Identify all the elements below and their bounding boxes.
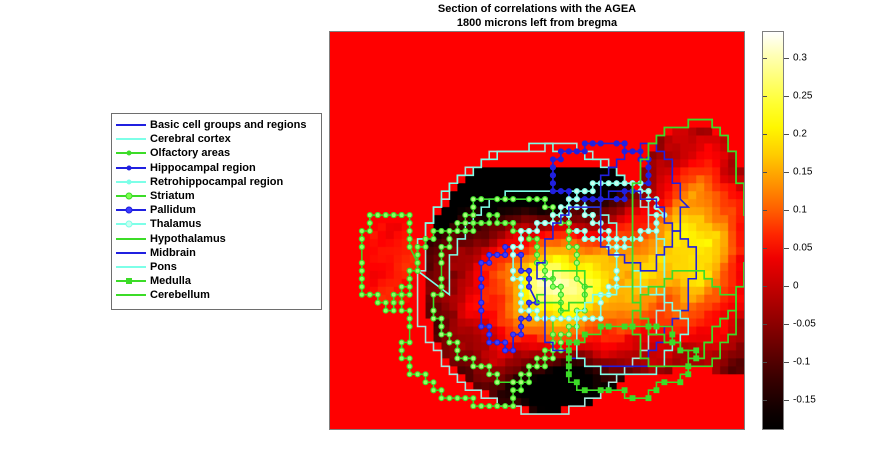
contour-olfactory-areas-marker: [415, 244, 420, 249]
contour-olfactory-areas-marker: [439, 229, 444, 234]
page-title: Section of correlations with the AGEA 18…: [329, 3, 745, 30]
contour-olfactory-areas-marker: [471, 229, 476, 234]
contour-cerebral-cortex: [418, 143, 665, 294]
colorbar-tick-inner: [763, 96, 767, 97]
contour-hippocampal-region-marker: [558, 189, 563, 194]
colorbar-tick: [784, 58, 789, 59]
contour-retrohippocampal-region-marker: [590, 236, 595, 241]
contour-olfactory-areas-marker: [495, 213, 500, 218]
contour-striatum-marker: [463, 356, 468, 361]
contour-medulla-marker: [654, 388, 659, 393]
colorbar-tick-label: 0.3: [793, 52, 807, 63]
contour-pallidum-marker: [495, 252, 500, 257]
contour-olfactory-bulb-marker: [375, 213, 380, 218]
contour-striatum-marker: [487, 372, 492, 377]
legend-item-pallidum[interactable]: Pallidum: [112, 203, 321, 217]
contour-hippocampal-region-marker: [590, 141, 595, 146]
contour-olfactory-areas-marker: [407, 372, 412, 377]
contour-olfactory-bulb-marker: [399, 292, 404, 297]
contour-olfactory-areas-marker: [542, 364, 547, 369]
contour-olfactory-bulb-marker: [367, 292, 372, 297]
contour-olfactory-bulb-marker: [407, 244, 412, 249]
contour-olfactory-bulb-marker: [359, 284, 364, 289]
contour-retrohippocampal-region-marker: [574, 197, 579, 202]
contour-retrohippocampal-region-marker: [590, 181, 595, 186]
contour-striatum-marker: [431, 308, 436, 313]
legend-item-cerebral-cortex[interactable]: Cerebral cortex: [112, 132, 321, 146]
contour-olfactory-areas-marker: [399, 340, 404, 345]
contour-thalamus-marker: [558, 316, 563, 321]
contour-striatum-marker: [447, 340, 452, 345]
contour-pallidum-marker: [479, 308, 484, 313]
contour-olfactory-areas-marker: [423, 244, 428, 249]
contour-retrohippocampal-region-marker: [654, 229, 659, 234]
contour-striatum-marker: [439, 316, 444, 321]
contour-striatum-marker: [479, 364, 484, 369]
legend-item-basic-cell-groups-and-regions[interactable]: Basic cell groups and regions: [112, 118, 321, 132]
contour-olfactory-bulb-marker: [407, 213, 412, 218]
contour-pallidum-marker: [527, 268, 532, 273]
colorbar-tick-label: 0.25: [793, 90, 812, 101]
contour-thalamus-marker: [566, 316, 571, 321]
contour-striatum-marker: [447, 244, 452, 249]
contour-hippocampal-region-marker: [582, 149, 587, 154]
legend-item-striatum[interactable]: Striatum: [112, 189, 321, 203]
contour-olfactory-areas-marker: [463, 396, 468, 401]
contour-olfactory-bulb-marker: [407, 268, 412, 273]
contour-striatum-marker: [566, 221, 571, 226]
colorbar-tick-inner: [763, 400, 767, 401]
contour-olfactory-areas-marker: [415, 252, 420, 257]
contour-olfactory-areas-marker: [495, 404, 500, 409]
contour-thalamus-marker: [590, 316, 595, 321]
contour-olfactory-bulb-marker: [391, 292, 396, 297]
contour-pallidum-marker: [479, 324, 484, 329]
contour-olfactory-areas-marker: [407, 340, 412, 345]
legend-swatch: [116, 118, 146, 132]
legend-line-icon: [116, 238, 146, 240]
colorbar-tick-label: 0.15: [793, 166, 812, 177]
contour-olfactory-areas-marker: [399, 284, 404, 289]
contour-striatum-marker: [527, 364, 532, 369]
contour-pallidum-marker: [487, 340, 492, 345]
contour-olfactory-bulb-marker: [407, 284, 412, 289]
legend-swatch: [116, 189, 146, 203]
contour-hippocampal-region-marker: [590, 197, 595, 202]
contour-striatum-marker: [519, 372, 524, 377]
legend-item-hypothalamus[interactable]: Hypothalamus: [112, 232, 321, 246]
contour-retrohippocampal-region-marker: [622, 244, 627, 249]
legend-item-label: Basic cell groups and regions: [150, 119, 307, 131]
contour-olfactory-areas-marker: [447, 396, 452, 401]
contour-striatum-marker: [463, 213, 468, 218]
contour-hippocampal-region-marker: [646, 173, 651, 178]
contour-retrohippocampal-region-marker: [574, 229, 579, 234]
colorbar-tick: [784, 96, 789, 97]
contour-hippocampal-region-marker: [614, 141, 619, 146]
contour-medulla-marker: [582, 332, 587, 337]
brain-section-heatmap-axes[interactable]: [329, 31, 745, 430]
colorbar[interactable]: [762, 31, 784, 430]
contour-thalamus-marker: [519, 229, 524, 234]
colorbar-tick: [784, 324, 789, 325]
contour-striatum-marker: [566, 236, 571, 241]
contour-olfactory-areas-marker: [542, 348, 547, 353]
colorbar-tick-inner: [763, 210, 767, 211]
contour-striatum-marker: [566, 244, 571, 249]
contour-hippocampal-region-marker: [614, 197, 619, 202]
contour-hippocampal-region-marker: [622, 141, 627, 146]
contour-hippocampal-region-marker: [550, 181, 555, 186]
contour-olfactory-areas-marker: [503, 221, 508, 226]
colorbar-tick-label: 0.05: [793, 242, 812, 253]
contour-medulla-marker: [574, 340, 579, 345]
contour-olfactory-areas-marker: [511, 388, 516, 393]
contour-medulla-marker: [606, 324, 611, 329]
contour-medulla-marker: [606, 388, 611, 393]
contour-thalamus-marker: [606, 229, 611, 234]
contour-hippocampal-region-marker: [574, 149, 579, 154]
contour-thalamus-marker: [550, 316, 555, 321]
legend-item-thalamus[interactable]: Thalamus: [112, 217, 321, 231]
colorbar-tick-label: 0.1: [793, 204, 807, 215]
contour-thalamus-marker: [519, 276, 524, 281]
contour-striatum-marker: [495, 197, 500, 202]
contour-striatum-marker: [558, 340, 563, 345]
contour-olfactory-areas-marker: [399, 356, 404, 361]
contour-striatum-marker: [447, 332, 452, 337]
contour-medulla-marker: [662, 380, 667, 385]
contour-striatum-marker: [447, 229, 452, 234]
contour-thalamus-marker: [511, 276, 516, 281]
colorbar-tick-label: -0.1: [793, 356, 810, 367]
colorbar-tick-label: 0: [793, 280, 799, 291]
contour-olfactory-areas-marker: [423, 236, 428, 241]
contour-medulla-marker: [694, 348, 699, 353]
contour-striatum-marker: [471, 356, 476, 361]
contour-olfactory-bulb-marker: [407, 276, 412, 281]
contour-striatum-marker: [519, 380, 524, 385]
colorbar-tick-inner: [763, 362, 767, 363]
legend-item-label: Hippocampal region: [150, 162, 256, 174]
contour-olfactory-bulb-marker: [375, 292, 380, 297]
contour-thalamus-marker: [598, 316, 603, 321]
contour-olfactory-areas-marker: [527, 380, 532, 385]
contour-striatum-marker: [439, 332, 444, 337]
colorbar-tick-label: -0.05: [793, 318, 816, 329]
contour-hippocampal-region-marker: [566, 149, 571, 154]
contour-olfactory-areas-marker: [423, 372, 428, 377]
contour-striatum-marker: [527, 372, 532, 377]
contour-striatum-marker: [503, 197, 508, 202]
contour-olfactory-bulb-marker: [359, 292, 364, 297]
colorbar-tick: [784, 362, 789, 363]
contour-medulla-marker: [654, 324, 659, 329]
legend-line-icon: [116, 252, 146, 254]
contour-hippocampal-region-marker: [622, 197, 627, 202]
contour-olfactory-areas-marker: [407, 324, 412, 329]
contour-retrohippocampal-region-marker: [582, 189, 587, 194]
contour-olfactory-areas-marker: [527, 236, 532, 241]
colorbar-tick-inner: [763, 58, 767, 59]
legend-line-icon: [116, 138, 146, 140]
legend-swatch: [116, 217, 146, 231]
contour-hippocampal-region-marker: [550, 157, 555, 162]
contour-hippocampal-region-marker: [550, 165, 555, 170]
contour-thalamus-marker: [535, 229, 540, 234]
legend-item-label: Medulla: [150, 275, 191, 287]
contour-pallidum-marker: [503, 340, 508, 345]
contour-olfactory-bulb-marker: [367, 221, 372, 226]
contour-thalamus-marker: [519, 300, 524, 305]
contour-thalamus-marker: [535, 308, 540, 313]
contour-olfactory-areas-marker: [471, 404, 476, 409]
contour-thalamus-marker: [590, 213, 595, 218]
contour-pallidum-marker: [503, 244, 508, 249]
contour-retrohippocampal-region-marker: [590, 189, 595, 194]
contour-retrohippocampal-region-marker: [654, 221, 659, 226]
legend-swatch: [116, 260, 146, 274]
contour-striatum-marker: [574, 276, 579, 281]
contour-olfactory-bulb-marker: [391, 308, 396, 313]
contour-striatum-marker: [558, 332, 563, 337]
contour-olfactory-areas-marker: [511, 221, 516, 226]
contour-pallidum-marker: [511, 348, 516, 353]
colorbar-tick: [784, 134, 789, 135]
contour-thalamus-marker: [519, 244, 524, 249]
contour-olfactory-areas-marker: [511, 404, 516, 409]
contour-thalamus-marker: [535, 316, 540, 321]
contour-olfactory-areas-marker: [407, 308, 412, 313]
contour-thalamus-marker: [511, 252, 516, 257]
contour-olfactory-bulb-marker: [367, 229, 372, 234]
contour-olfactory-bulb-marker: [407, 236, 412, 241]
contour-olfactory-bulb-marker: [367, 213, 372, 218]
legend-line-icon: [116, 266, 146, 268]
contour-thalamus-marker: [535, 221, 540, 226]
contour-olfactory-areas-marker: [407, 364, 412, 369]
legend-swatch: [116, 161, 146, 175]
contour-olfactory-areas-marker: [407, 316, 412, 321]
contour-medulla-marker: [566, 348, 571, 353]
contour-striatum-marker: [431, 292, 436, 297]
legend-marker-icon: [127, 179, 132, 184]
contour-thalamus-marker: [519, 308, 524, 313]
contour-medulla-marker: [582, 388, 587, 393]
legend-item-cerebellum[interactable]: Cerebellum: [112, 288, 321, 302]
contour-olfactory-areas-marker: [550, 332, 555, 337]
contour-medulla-marker: [670, 332, 675, 337]
contour-pallidum-marker: [487, 252, 492, 257]
contour-olfactory-areas-marker: [511, 229, 516, 234]
contour-thalamus-marker: [614, 236, 619, 241]
legend-marker-icon: [127, 165, 132, 170]
contour-retrohippocampal-region-marker: [582, 236, 587, 241]
contour-pallidum-marker: [495, 340, 500, 345]
contour-striatum-marker: [471, 213, 476, 218]
contour-striatum-marker: [471, 197, 476, 202]
contour-striatum-marker: [439, 284, 444, 289]
contour-pallidum-marker: [527, 276, 532, 281]
legend-marker-icon: [126, 193, 133, 200]
legend-item-label: Striatum: [150, 190, 195, 202]
contour-olfactory-areas-marker: [431, 388, 436, 393]
contour-olfactory-bulb-marker: [383, 213, 388, 218]
colorbar-tick: [784, 400, 789, 401]
contour-hippocampal-region-marker: [550, 173, 555, 178]
contour-thalamus-marker: [527, 308, 532, 313]
contour-pallidum-marker: [527, 316, 532, 321]
colorbar-tick: [784, 210, 789, 211]
contour-medulla-marker: [622, 324, 627, 329]
legend-marker-icon: [126, 207, 133, 214]
contour-thalamus-marker: [606, 236, 611, 241]
contour-olfactory-bulb-marker: [407, 292, 412, 297]
contour-striatum-marker: [487, 364, 492, 369]
contour-pallidum-marker: [503, 252, 508, 257]
contour-thalamus-marker: [590, 221, 595, 226]
legend-item-label: Thalamus: [150, 218, 201, 230]
contour-thalamus-marker: [614, 268, 619, 273]
colorbar-tick-inner: [763, 286, 767, 287]
contour-olfactory-bulb-marker: [383, 300, 388, 305]
contour-olfactory-areas-marker: [535, 236, 540, 241]
contour-striatum-marker: [439, 292, 444, 297]
colorbar-tick-label: 0.2: [793, 128, 807, 139]
contour-pallidum-marker: [487, 332, 492, 337]
legend-swatch: [116, 232, 146, 246]
contour-pallidum-marker: [487, 260, 492, 265]
contour-pallidum-marker: [479, 284, 484, 289]
contour-striatum-marker: [439, 260, 444, 265]
contour-pallidum-marker: [527, 284, 532, 289]
contour-olfactory-bulb-marker: [407, 229, 412, 234]
contour-striatum-marker: [574, 252, 579, 257]
contour-striatum-marker: [455, 348, 460, 353]
legend-marker-icon: [126, 278, 132, 284]
contour-hippocampal-region-marker: [582, 197, 587, 202]
contour-olfactory-bulb-marker: [359, 268, 364, 273]
legend-item-medulla[interactable]: Medulla: [112, 274, 321, 288]
contour-olfactory-bulb-marker: [407, 221, 412, 226]
legend-swatch: [116, 132, 146, 146]
contour-olfactory-areas-marker: [550, 284, 555, 289]
contour-striatum-marker: [542, 197, 547, 202]
contour-olfactory-areas-marker: [519, 388, 524, 393]
contour-striatum-marker: [495, 380, 500, 385]
legend-item-label: Pons: [150, 261, 177, 273]
colorbar-tick-inner: [763, 172, 767, 173]
contour-thalamus-marker: [542, 221, 547, 226]
contour-thalamus-marker: [606, 284, 611, 289]
contour-hippocampal-region-marker: [646, 165, 651, 170]
contour-olfactory-bulb-marker: [415, 268, 420, 273]
contour-striatum-marker: [550, 356, 555, 361]
contour-striatum-marker: [439, 252, 444, 257]
contour-thalamus-marker: [614, 276, 619, 281]
legend-swatch: [116, 175, 146, 189]
contour-striatum: [434, 199, 585, 382]
title-line-2: 1800 microns left from bregma: [329, 17, 745, 31]
contour-striatum-marker: [535, 197, 540, 202]
legend-item-label: Midbrain: [150, 247, 196, 259]
title-line-1: Section of correlations with the AGEA: [329, 3, 745, 17]
contour-olfactory-areas-marker: [415, 372, 420, 377]
contour-retrohippocampal-region-marker: [566, 197, 571, 202]
legend-item-olfactory-areas[interactable]: Olfactory areas: [112, 146, 321, 160]
legend-swatch: [116, 246, 146, 260]
contour-medulla-marker: [566, 364, 571, 369]
contour-olfactory-areas-marker: [399, 348, 404, 353]
contour-hippocampal-region-marker: [558, 157, 563, 162]
contour-pallidum-marker: [503, 348, 508, 353]
contour-striatum-marker: [439, 324, 444, 329]
legend-marker-icon: [126, 221, 133, 228]
contour-medulla-marker: [566, 340, 571, 345]
contour-olfactory-areas-marker: [439, 388, 444, 393]
contour-striatum-marker: [566, 324, 571, 329]
legend-swatch: [116, 203, 146, 217]
contour-olfactory-areas-marker: [558, 292, 563, 297]
contour-hippocampal-region-marker: [582, 141, 587, 146]
contour-striatum-marker: [471, 205, 476, 210]
colorbar-tick-inner: [763, 324, 767, 325]
contour-striatum-marker: [463, 221, 468, 226]
contour-medulla-marker: [598, 388, 603, 393]
contour-olfactory-areas-marker: [463, 229, 468, 234]
legend-item-retrohippocampal-region[interactable]: Retrohippocampal region: [112, 175, 321, 189]
contour-olfactory-bulb-marker: [359, 260, 364, 265]
contour-retrohippocampal-region-marker: [582, 229, 587, 234]
legend-box[interactable]: Basic cell groups and regionsCerebral co…: [111, 113, 322, 310]
contour-olfactory-areas-marker: [511, 396, 516, 401]
contour-hippocampal-region-marker: [558, 149, 563, 154]
contour-medulla-marker: [678, 380, 683, 385]
contour-olfactory-bulb-marker: [415, 260, 420, 265]
contour-thalamus-marker: [582, 213, 587, 218]
contour-medulla-marker: [686, 372, 691, 377]
contour-thalamus-marker: [519, 284, 524, 289]
contour-olfactory-areas-marker: [471, 221, 476, 226]
legend-item-midbrain[interactable]: Midbrain: [112, 246, 321, 260]
contour-pallidum-marker: [519, 324, 524, 329]
colorbar-tick: [784, 248, 789, 249]
contour-medulla-marker: [630, 396, 635, 401]
legend-line-icon: [116, 294, 146, 296]
legend-item-pons[interactable]: Pons: [112, 260, 321, 274]
contour-hippocampal-region-marker: [646, 181, 651, 186]
contour-retrohippocampal-region-marker: [622, 236, 627, 241]
contour-medulla-marker: [566, 356, 571, 361]
legend-item-hippocampal-region[interactable]: Hippocampal region: [112, 161, 321, 175]
legend-line-icon: [116, 124, 146, 126]
anatomical-contour-overlay: [330, 32, 744, 429]
contour-olfactory-areas-marker: [495, 221, 500, 226]
contour-striatum-marker: [542, 356, 547, 361]
contour-pallidum-marker: [519, 252, 524, 257]
contour-olfactory-areas-marker: [431, 229, 436, 234]
legend-item-label: Hypothalamus: [150, 233, 226, 245]
contour-hippocampal-region-marker: [566, 189, 571, 194]
contour-striatum-marker: [511, 380, 516, 385]
contour-striatum-marker: [455, 229, 460, 234]
contour-thalamus-marker: [558, 205, 563, 210]
contour-thalamus-marker: [614, 244, 619, 249]
colorbar-tick-inner: [763, 248, 767, 249]
contour-pallidum-marker: [519, 332, 524, 337]
contour-hippocampal-region-marker: [550, 189, 555, 194]
colorbar-tick: [784, 172, 789, 173]
